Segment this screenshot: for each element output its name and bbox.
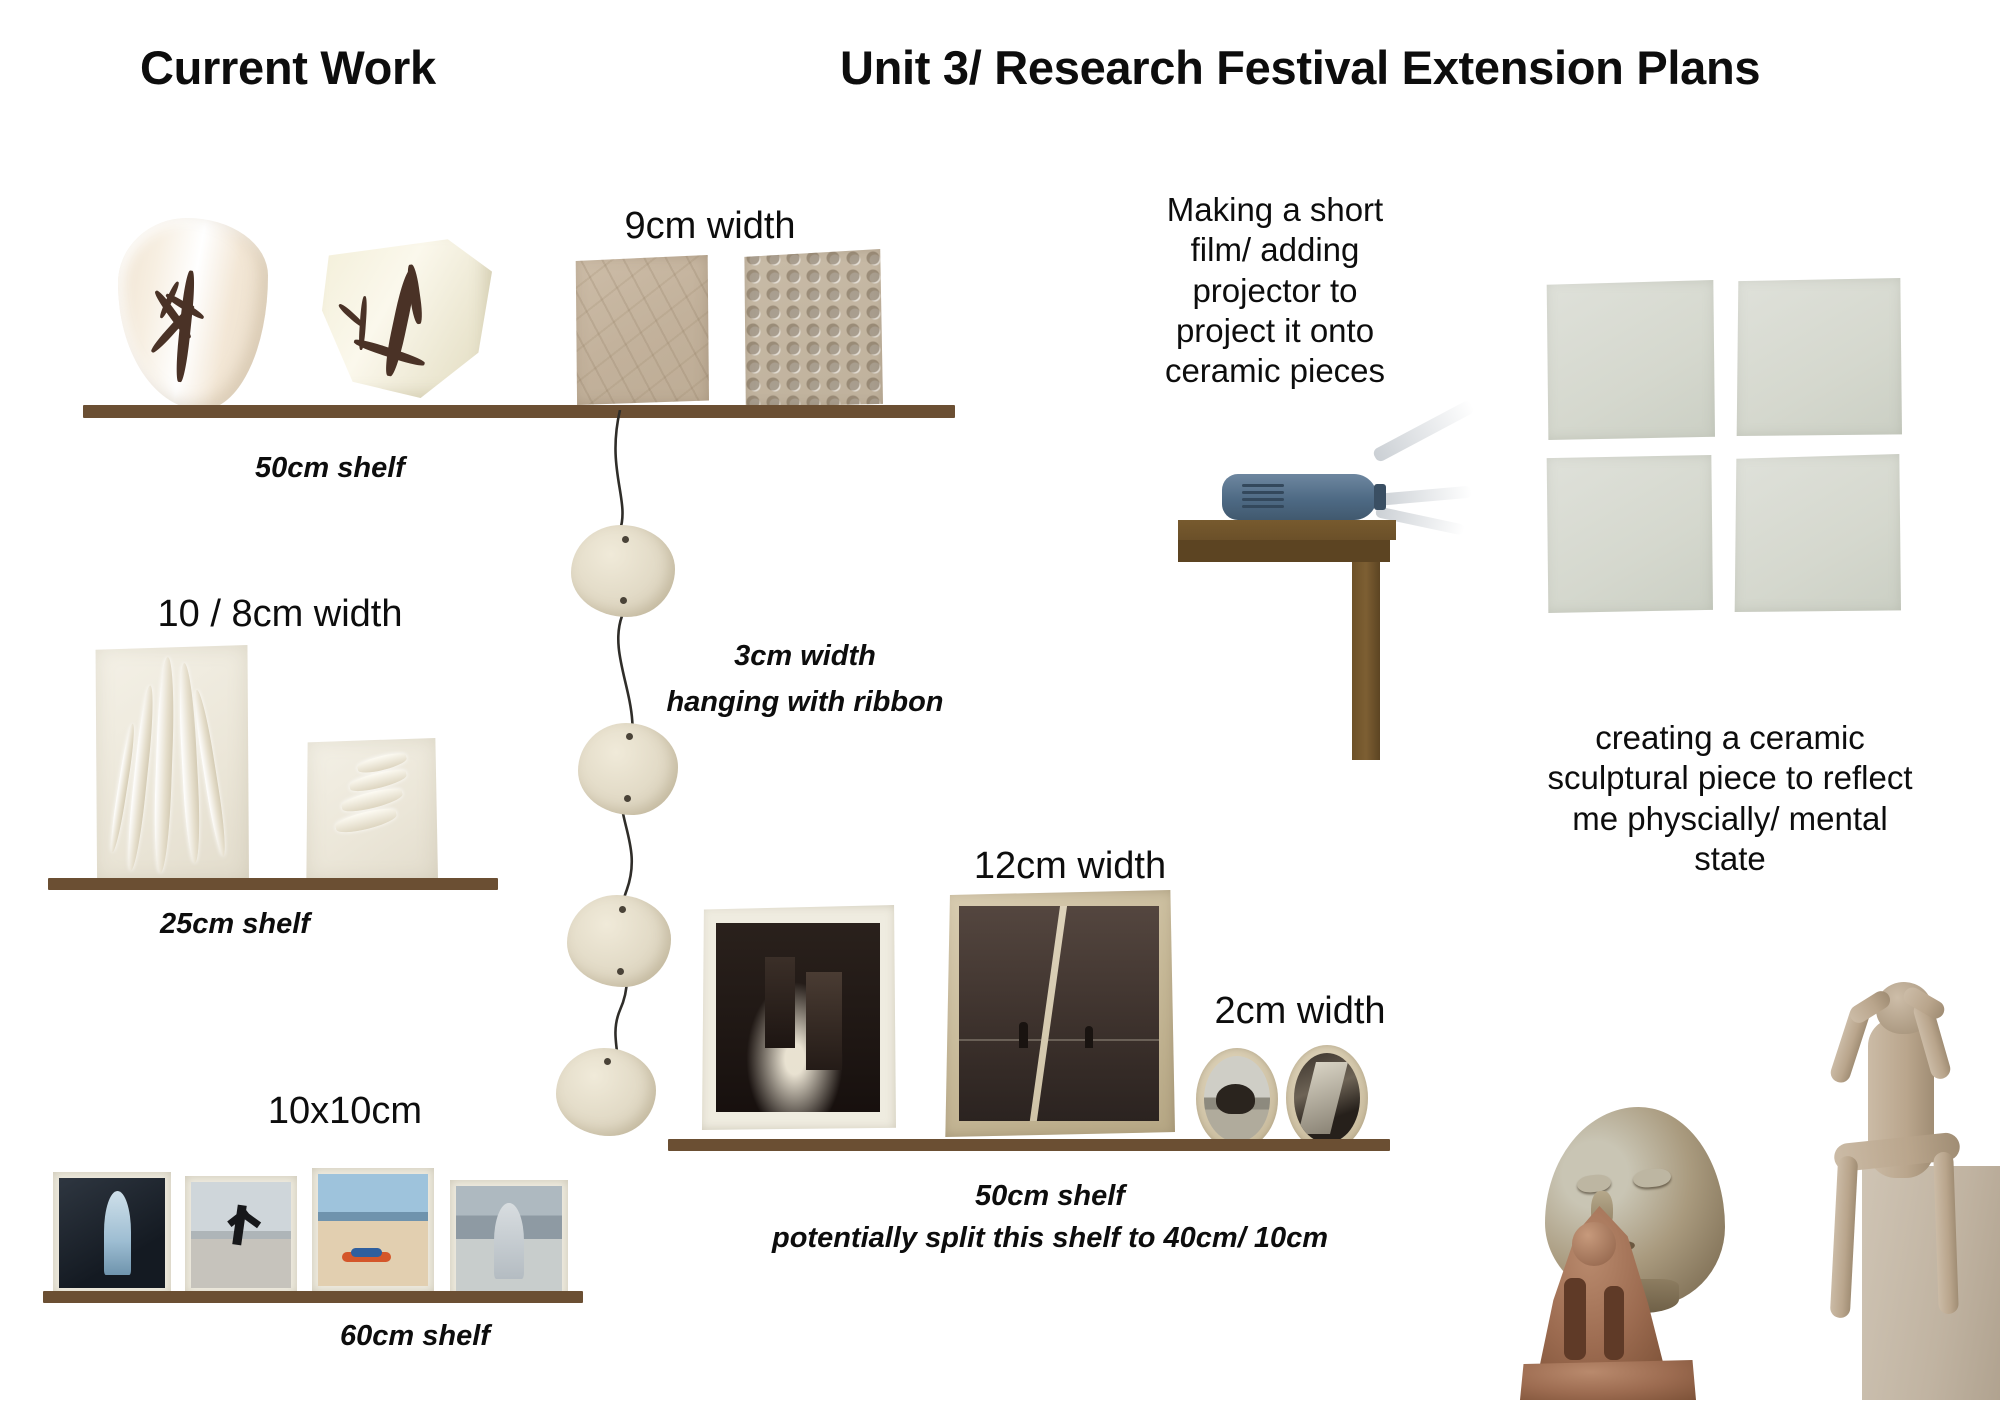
- hanging-disc-4: [556, 1048, 656, 1136]
- dimension-label-9cm: 9cm width: [600, 205, 820, 248]
- projector-table-leg: [1352, 562, 1380, 760]
- photo-tile-beach-towel: [312, 1168, 434, 1292]
- hanging-label-line2: hanging with ribbon: [640, 686, 970, 719]
- gray-ceramic-square-1: [1545, 280, 1715, 440]
- projector-note-line-2: film/ adding: [1140, 230, 1410, 270]
- projector-note-line-5: ceramic pieces: [1140, 351, 1410, 391]
- shelf-label-60cm: 60cm shelf: [250, 1320, 580, 1353]
- sculpture-note-line-1: creating a ceramic: [1530, 718, 1930, 758]
- gray-ceramic-square-4: [1733, 454, 1901, 612]
- hanging-disc-3: [567, 895, 671, 987]
- oval-photo-window: [1286, 1045, 1368, 1151]
- figure-plinth: [1862, 1166, 2000, 1400]
- framed-ceramic-photo-two-figures: [943, 890, 1175, 1137]
- projector-note: Making a short film/ adding projector to…: [1140, 190, 1410, 391]
- seated-figure-on-plinth: [1790, 960, 2000, 1400]
- sculpture-note-line-2: sculptural piece to reflect: [1530, 758, 1930, 798]
- projector-lens: [1374, 484, 1386, 510]
- projector-table-top: [1178, 520, 1396, 540]
- projector-note-line-4: project it onto: [1140, 311, 1410, 351]
- page-title-left: Current Work: [140, 40, 436, 95]
- shelf-centre: [668, 1139, 1390, 1151]
- hanging-disc-2: [578, 723, 678, 815]
- shelf-label-25cm: 25cm shelf: [70, 908, 400, 941]
- shelf-label-50cm-centre-line1: 50cm shelf: [760, 1180, 1340, 1213]
- terracotta-huddled-figure: [1520, 1200, 1700, 1400]
- page-title-right: Unit 3/ Research Festival Extension Plan…: [840, 40, 1760, 95]
- photo-tile-handstand-beach: [185, 1176, 297, 1294]
- cracked-texture-clay-tile: [573, 255, 709, 405]
- dimension-label-10-8cm: 10 / 8cm width: [110, 593, 450, 636]
- dimension-label-12cm: 12cm width: [950, 845, 1190, 888]
- gray-ceramic-square-3: [1545, 455, 1713, 613]
- hanging-disc-1: [571, 525, 675, 617]
- hanging-label-line1: 3cm width: [640, 640, 970, 673]
- photo-tile-figure-sea: [450, 1180, 568, 1298]
- projector-table-skirt: [1178, 540, 1390, 562]
- photo-print-dark-hallway: [700, 905, 896, 1130]
- sculpture-note-line-4: state: [1530, 839, 1930, 879]
- plaster-relief-fingers-panel: [94, 645, 249, 882]
- gray-ceramic-square-2: [1735, 278, 1902, 436]
- projector-beam-mid: [1375, 486, 1472, 506]
- sculpture-note: creating a ceramic sculptural piece to r…: [1530, 718, 1930, 879]
- projector-illustration: [1160, 430, 1480, 790]
- dimension-label-10x10cm: 10x10cm: [200, 1090, 490, 1133]
- plaster-relief-hand-impression-tile: [305, 738, 438, 882]
- sculpture-note-line-3: me physcially/ mental: [1530, 799, 1930, 839]
- photo-tile-cave-opening: [53, 1172, 171, 1294]
- shelf-label-50cm-centre-line2: potentially split this shelf to 40cm/ 10…: [760, 1222, 1340, 1255]
- projector-body: [1222, 474, 1377, 520]
- shelf-top-left: [83, 405, 955, 418]
- dimension-label-2cm: 2cm width: [1190, 990, 1410, 1033]
- oval-photo-tree: [1196, 1048, 1278, 1150]
- shelf-middle-left: [48, 878, 498, 890]
- projector-beam-upper: [1372, 399, 1476, 463]
- projector-note-line-3: projector to: [1140, 271, 1410, 311]
- ceramic-shard-with-branch-motif: [322, 236, 492, 398]
- shelf-label-50cm-top: 50cm shelf: [130, 452, 530, 485]
- folded-ceramic-vessel-with-tree-motif: [118, 218, 268, 410]
- projector-note-line-1: Making a short: [1140, 190, 1410, 230]
- shelf-bottom-left: [43, 1291, 583, 1303]
- dimpled-texture-clay-tile: [743, 249, 883, 407]
